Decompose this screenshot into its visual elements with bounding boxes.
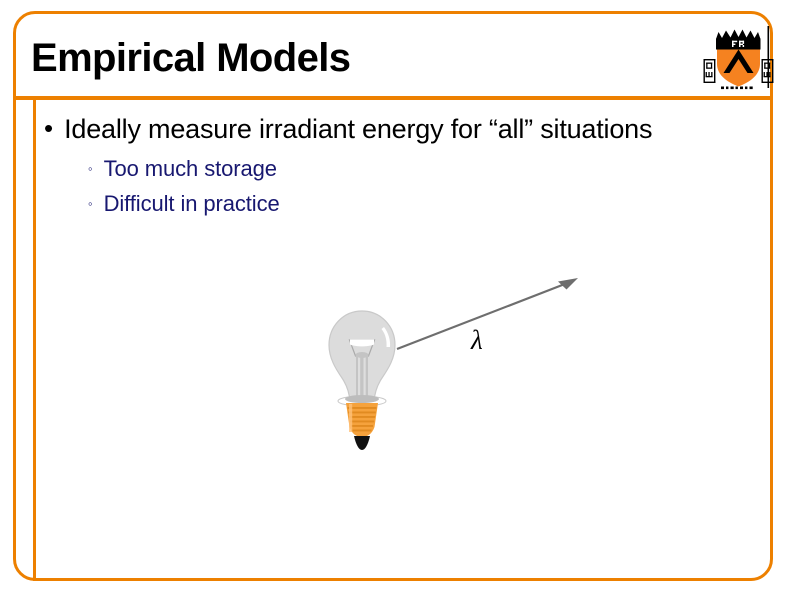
bullet-text: Ideally measure irradiant energy for “al…	[64, 113, 652, 145]
title-divider	[13, 96, 773, 100]
bullet-text: Difficult in practice	[104, 190, 280, 217]
bullet-item-primary: • Ideally measure irradiant energy for “…	[44, 113, 784, 145]
wavelength-ray-arrow	[390, 268, 590, 360]
wavelength-lambda-label: λ	[471, 325, 483, 356]
bullet-item-sub: ◦ Too much storage	[88, 155, 277, 183]
bullet-marker-dot: •	[44, 113, 53, 143]
princeton-shield-logo	[703, 26, 775, 92]
bullet-item-sub: ◦ Difficult in practice	[88, 190, 280, 218]
bullet-marker-circle: ◦	[88, 190, 93, 218]
bullet-marker-circle: ◦	[88, 155, 93, 183]
slide-canvas: Empirical Models	[0, 0, 800, 600]
body-left-rule	[33, 99, 36, 581]
page-title: Empirical Models	[31, 36, 350, 81]
bullet-text: Too much storage	[104, 155, 277, 182]
